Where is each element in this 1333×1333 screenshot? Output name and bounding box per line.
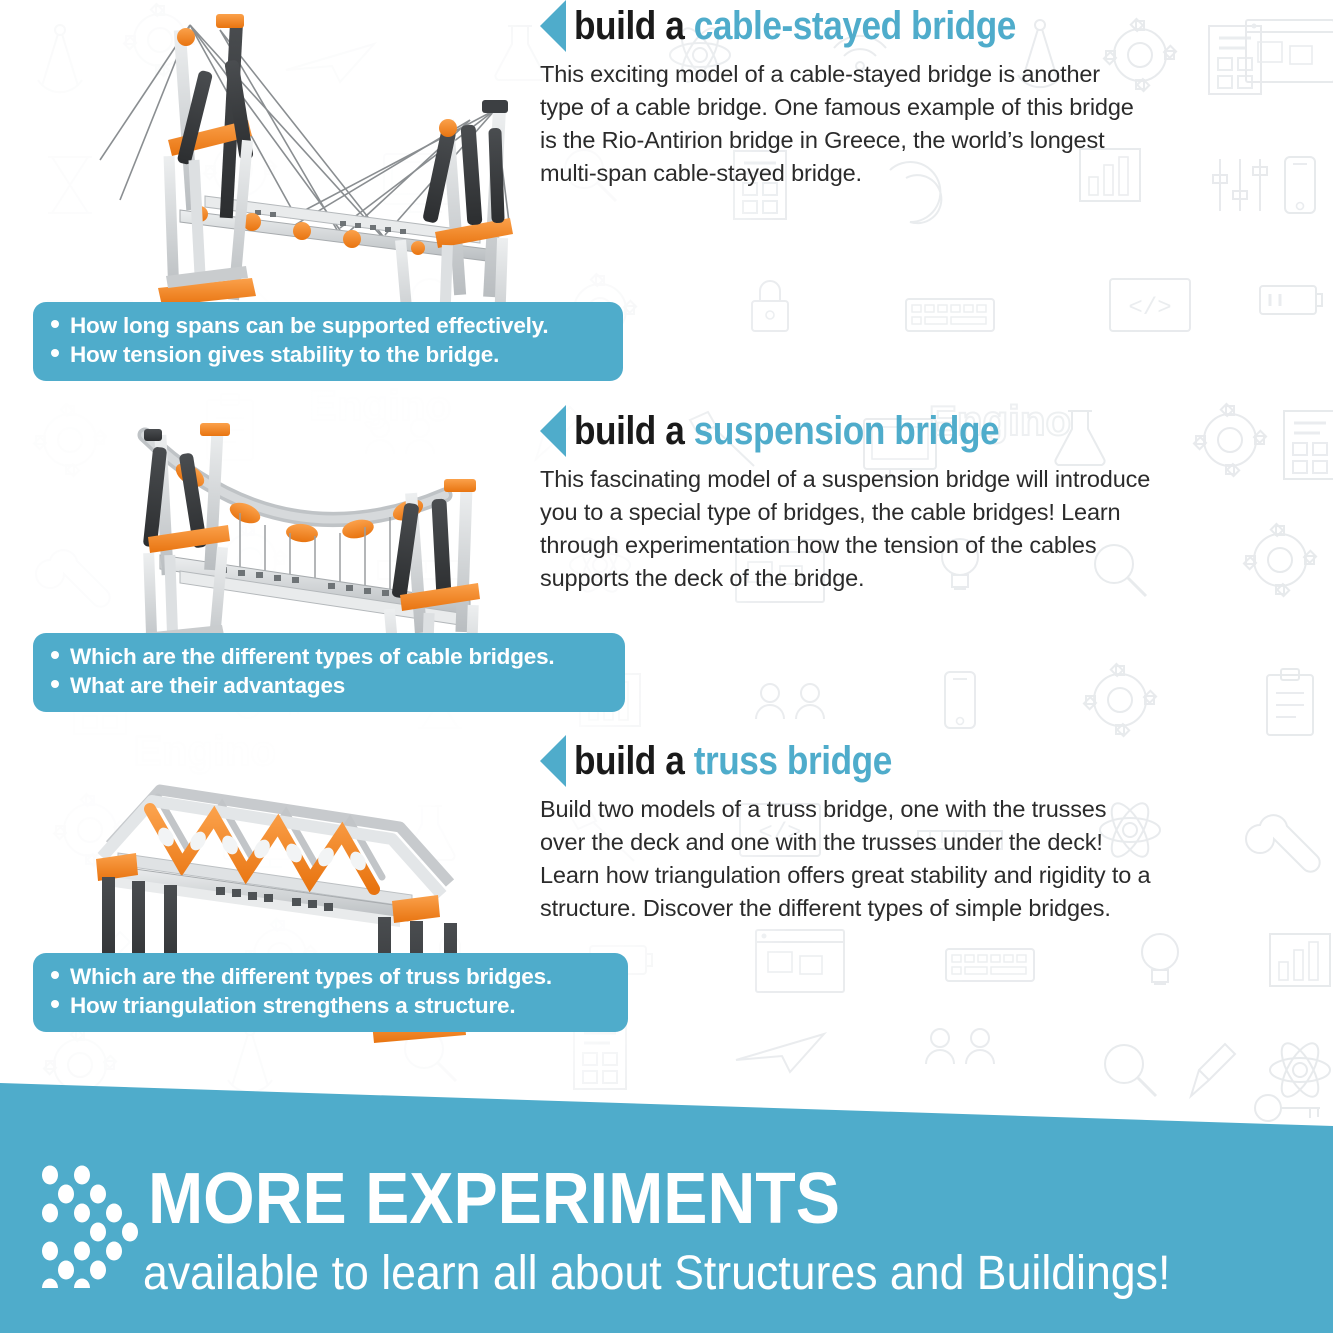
bullet-item: Which are the different types of truss b… — [51, 962, 610, 991]
bullet-text: How long spans can be supported effectiv… — [70, 311, 548, 340]
bullet-item: How tension gives stability to the bridg… — [51, 340, 605, 369]
banner-subtitle: available to learn all about Structures … — [143, 1250, 1170, 1298]
heading-prefix: build a — [574, 4, 684, 48]
bullet-dot-icon — [51, 680, 59, 688]
bullet-list: Which are the different types of truss b… — [51, 962, 610, 1021]
bullet-text: What are their advantages — [70, 671, 345, 700]
section-body-text: This exciting model of a cable-stayed br… — [540, 58, 1140, 190]
bullet-item: How long spans can be supported effectiv… — [51, 311, 605, 340]
triangle-marker-icon — [540, 405, 566, 457]
triangle-marker-icon — [540, 0, 566, 52]
text-block-cable-stayed: build a cable-stayed bridge This excitin… — [540, 0, 1200, 190]
bullet-list: How long spans can be supported effectiv… — [51, 311, 605, 370]
bullet-dot-icon — [51, 651, 59, 659]
text-block-suspension: build a suspension bridge This fascinati… — [540, 405, 1200, 595]
heading-prefix: build a — [574, 409, 684, 453]
bullet-text: How triangulation strengthens a structur… — [70, 991, 515, 1020]
heading-name: truss bridge — [694, 739, 892, 783]
bullet-item: What are their advantages — [51, 671, 607, 700]
bullet-text: Which are the different types of cable b… — [70, 642, 554, 671]
section-heading: build a cable-stayed bridge — [574, 6, 1016, 46]
banner-title: MORE EXPERIMENTS — [148, 1163, 840, 1235]
bullet-item: Which are the different types of cable b… — [51, 642, 607, 671]
bullet-dot-icon — [51, 349, 59, 357]
heading-prefix: build a — [574, 739, 684, 783]
bullet-list: Which are the different types of cable b… — [51, 642, 607, 701]
triangle-marker-icon — [540, 735, 566, 787]
section-body-text: This fascinating model of a suspension b… — [540, 463, 1158, 595]
bullet-dot-icon — [51, 971, 59, 979]
dot-chevron-logo-icon — [36, 1160, 144, 1288]
bullet-text: How tension gives stability to the bridg… — [70, 340, 499, 369]
learning-outcomes-callout: How long spans can be supported effectiv… — [33, 302, 623, 381]
section-cable-stayed-bridge: build a cable-stayed bridge This excitin… — [0, 0, 1333, 405]
bullet-dot-icon — [51, 1000, 59, 1008]
bullet-dot-icon — [51, 320, 59, 328]
section-heading: build a truss bridge — [574, 741, 892, 781]
text-block-truss: build a truss bridge Build two models of… — [540, 735, 1200, 925]
section-suspension-bridge: build a suspension bridge This fascinati… — [0, 405, 1333, 735]
heading-name: suspension bridge — [694, 409, 999, 453]
section-heading: build a suspension bridge — [574, 411, 999, 451]
section-body-text: Build two models of a truss bridge, one … — [540, 793, 1155, 925]
more-experiments-banner: MORE EXPERIMENTS available to learn all … — [0, 1060, 1333, 1333]
bullet-text: Which are the different types of truss b… — [70, 962, 552, 991]
learning-outcomes-callout: Which are the different types of cable b… — [33, 633, 625, 712]
learning-outcomes-callout: Which are the different types of truss b… — [33, 953, 628, 1032]
section-truss-bridge: build a truss bridge Build two models of… — [0, 735, 1333, 1065]
heading-name: cable-stayed bridge — [694, 4, 1016, 48]
bullet-item: How triangulation strengthens a structur… — [51, 991, 610, 1020]
